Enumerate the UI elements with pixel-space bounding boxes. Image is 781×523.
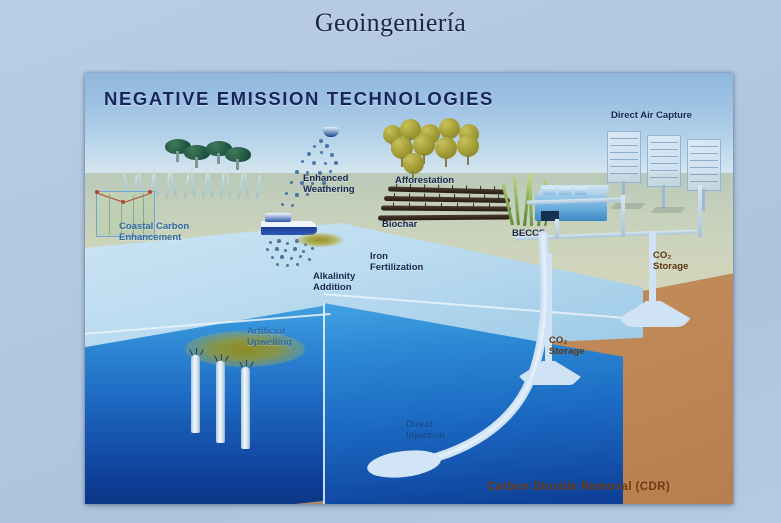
surface-riser-dac-2	[698, 185, 702, 237]
dac-panel-shadow	[611, 203, 646, 209]
label-line-1: CO₂	[549, 335, 567, 346]
label-line-1: Direct	[406, 419, 433, 430]
block-edge-vertical	[323, 303, 325, 504]
dac-panel-shadow	[651, 207, 686, 213]
label-line-2: Enhancement	[119, 232, 181, 243]
label-line-1: CO₂	[653, 250, 671, 261]
label-co2-storage-mid: CO₂ Storage	[549, 335, 584, 357]
dac-panel	[647, 135, 681, 187]
surface-riser-dac	[621, 195, 625, 237]
label-iron-fertilization: Iron Fertilization	[370, 251, 423, 273]
upwelling-pipe	[191, 355, 200, 433]
label-line-1: Alkalinity	[313, 271, 355, 282]
label-line-2: Weathering	[303, 184, 355, 195]
diagram-heading: NEGATIVE EMISSION TECHNOLOGIES	[104, 88, 494, 110]
dac-panel-leg	[702, 189, 705, 211]
label-line-2: Addition	[313, 282, 352, 293]
label-direct-injection: Direct Injection	[406, 419, 445, 441]
dac-panel-leg	[662, 185, 665, 209]
label-line-1: Coastal Carbon	[119, 221, 189, 232]
label-enhanced-weathering: Enhanced Weathering	[303, 173, 355, 195]
label-line-1: Biochar	[382, 219, 417, 230]
label-co2-storage-right: CO₂ Storage	[653, 250, 688, 272]
label-carbon-dioxide-removal: Carbon Dioxide Removal (CDR)	[487, 481, 670, 494]
surface-riser-beccs	[555, 219, 559, 239]
label-line-1: Iron	[370, 251, 388, 262]
label-line-2: Upwelling	[247, 337, 292, 348]
upwelling-pipe-array	[191, 345, 277, 453]
label-line-1: Direct Air Capture	[611, 110, 692, 121]
label-line-1: Enhanced	[303, 173, 348, 184]
label-coastal-carbon-enhancement: Coastal Carbon Enhancement	[119, 221, 189, 243]
label-biochar: Biochar	[382, 219, 417, 230]
dac-panel	[687, 139, 721, 191]
label-line-2: Storage	[653, 261, 688, 272]
label-line-2: Injection	[406, 430, 445, 441]
label-line-2: Fertilization	[370, 262, 423, 273]
upwelling-pipe	[216, 361, 225, 443]
iron-fertilization-bloom-small	[297, 233, 343, 247]
afforestation-grove	[381, 115, 491, 177]
label-direct-air-capture: Direct Air Capture	[611, 110, 692, 121]
label-line-1: Artificial	[247, 326, 285, 337]
upwelling-pipe	[241, 367, 250, 449]
beccs-plant-vents	[543, 187, 601, 197]
direct-air-capture-array	[607, 129, 732, 229]
dac-panel	[607, 131, 641, 183]
page-title: Geoingeniería	[0, 8, 781, 38]
label-alkalinity-addition: Alkalinity Addition	[313, 271, 355, 293]
label-artificial-upwelling: Artificial Upwelling	[247, 326, 292, 348]
label-line-2: Storage	[549, 346, 584, 357]
negative-emission-technologies-diagram: NEGATIVE EMISSION TECHNOLOGIES	[85, 73, 733, 504]
